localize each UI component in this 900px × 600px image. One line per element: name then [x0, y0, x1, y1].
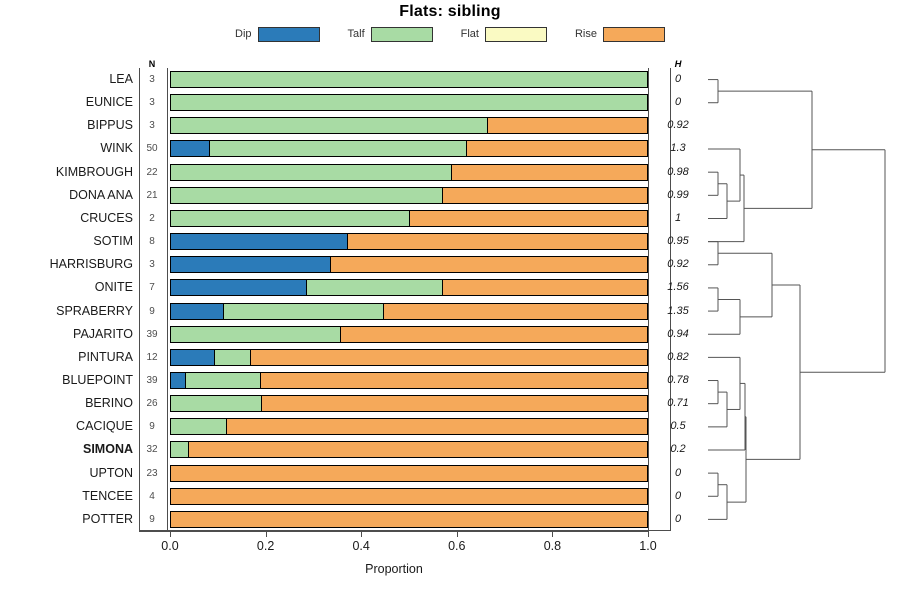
legend: Dip Talf Flat Rise: [0, 25, 900, 43]
row-n-value: 7: [139, 276, 165, 299]
bar-segment-talf: [171, 419, 226, 434]
x-tick-label: 0.8: [527, 539, 577, 553]
stacked-bar: [170, 117, 648, 134]
row-label-bluepoint: BLUEPOINT: [0, 369, 133, 392]
row-n-value: 50: [139, 137, 165, 160]
row-n-value: 3: [139, 114, 165, 137]
bar-segment-talf: [306, 280, 442, 295]
legend-label-rise: Rise: [575, 28, 597, 40]
stacked-bar: [170, 279, 648, 296]
row-label-simona: SIMONA: [0, 438, 133, 461]
row-n-value: 23: [139, 462, 165, 485]
row-h-value: 0: [654, 91, 702, 114]
x-axis-title: Proportion: [139, 562, 649, 576]
row-label-spraberry: SPRABERRY: [0, 300, 133, 323]
row-h-value: 0: [654, 68, 702, 91]
row-h-value: 0: [654, 485, 702, 508]
bar-segment-rise: [330, 257, 647, 272]
x-tick-label: 0.0: [145, 539, 195, 553]
bar-segment-talf: [171, 118, 487, 133]
row-h-value: 0.2: [654, 438, 702, 461]
stacked-bar: [170, 441, 648, 458]
row-label-dona-ana: DONA ANA: [0, 184, 133, 207]
stacked-bar: [170, 210, 648, 227]
stacked-bar: [170, 418, 648, 435]
row-label-eunice: EUNICE: [0, 91, 133, 114]
row-label-kimbrough: KIMBROUGH: [0, 161, 133, 184]
bar-segment-talf: [171, 188, 442, 203]
legend-swatch-talf: [371, 27, 433, 42]
bar-segment-rise: [442, 280, 647, 295]
bar-segment-rise: [226, 419, 647, 434]
row-h-value: 0.92: [654, 114, 702, 137]
bar-segment-rise: [171, 489, 647, 504]
stacked-bar: [170, 71, 648, 88]
x-tick-label: 0.2: [241, 539, 291, 553]
row-h-value: 0.99: [654, 184, 702, 207]
stacked-bar: [170, 488, 648, 505]
row-n-value: 22: [139, 161, 165, 184]
stacked-bar: [170, 395, 648, 412]
bar-segment-talf: [223, 304, 383, 319]
row-label-pajarito: PAJARITO: [0, 323, 133, 346]
bar-segment-dip: [171, 373, 185, 388]
row-n-value: 26: [139, 392, 165, 415]
legend-label-flat: Flat: [461, 28, 479, 40]
x-tick-label: 1.0: [623, 539, 673, 553]
row-n-value: 39: [139, 369, 165, 392]
bar-segment-talf: [171, 396, 261, 411]
row-n-value: 9: [139, 300, 165, 323]
legend-label-dip: Dip: [235, 28, 252, 40]
row-label-sotim: SOTIM: [0, 230, 133, 253]
row-h-value: 1.3: [654, 137, 702, 160]
bar-segment-rise: [340, 327, 647, 342]
stacked-bar: [170, 256, 648, 273]
bar-segment-rise: [451, 165, 647, 180]
bar-segment-talf: [214, 350, 251, 365]
row-h-value: 0.5: [654, 415, 702, 438]
bar-segment-talf: [171, 165, 451, 180]
legend-item-flat: Flat: [461, 27, 547, 42]
bar-segment-talf: [185, 373, 259, 388]
x-axis-line: [139, 531, 649, 532]
bar-segment-dip: [171, 304, 223, 319]
row-n-value: 3: [139, 91, 165, 114]
bar-segment-dip: [171, 234, 347, 249]
dendrogram: [700, 68, 900, 531]
row-label-tencee: TENCEE: [0, 485, 133, 508]
row-n-value: 2: [139, 207, 165, 230]
bar-segment-rise: [260, 373, 647, 388]
legend-item-talf: Talf: [348, 27, 433, 42]
bar-segment-rise: [442, 188, 647, 203]
row-h-value: 0.98: [654, 161, 702, 184]
row-n-value: 8: [139, 230, 165, 253]
bar-segment-talf: [209, 141, 466, 156]
bar-segment-dip: [171, 350, 214, 365]
row-label-cruces: CRUCES: [0, 207, 133, 230]
bar-segment-dip: [171, 257, 330, 272]
row-label-harrisburg: HARRISBURG: [0, 253, 133, 276]
bar-segment-rise: [347, 234, 647, 249]
stacked-bar: [170, 303, 648, 320]
bar-segment-talf: [171, 327, 340, 342]
row-label-pintura: PINTURA: [0, 346, 133, 369]
bar-segment-rise: [171, 512, 647, 527]
row-h-value: 0.94: [654, 323, 702, 346]
row-h-value: 0.82: [654, 346, 702, 369]
stacked-bar: [170, 164, 648, 181]
bar-segment-talf: [171, 211, 409, 226]
row-h-value: 0.95: [654, 230, 702, 253]
bar-segment-rise: [409, 211, 648, 226]
x-tick-label: 0.4: [336, 539, 386, 553]
row-n-value: 12: [139, 346, 165, 369]
row-label-potter: POTTER: [0, 508, 133, 531]
row-label-bippus: BIPPUS: [0, 114, 133, 137]
row-h-value: 1.56: [654, 276, 702, 299]
row-n-value: 3: [139, 253, 165, 276]
bar-segment-rise: [171, 466, 647, 481]
bar-segment-rise: [383, 304, 647, 319]
bar-segment-rise: [261, 396, 647, 411]
row-h-value: 0.71: [654, 392, 702, 415]
stacked-bar: [170, 372, 648, 389]
stacked-bar: [170, 94, 648, 111]
bar-segment-talf: [171, 442, 188, 457]
x-tick-label: 0.6: [432, 539, 482, 553]
stacked-bar: [170, 511, 648, 528]
row-n-value: 21: [139, 184, 165, 207]
row-label-upton: UPTON: [0, 462, 133, 485]
bar-segment-dip: [171, 280, 306, 295]
bar-segment-talf: [171, 95, 647, 110]
legend-label-talf: Talf: [348, 28, 365, 40]
bar-segment-talf: [171, 72, 647, 87]
row-label-berino: BERINO: [0, 392, 133, 415]
bar-segment-dip: [171, 141, 209, 156]
row-label-lea: LEA: [0, 68, 133, 91]
bar-segment-rise: [250, 350, 647, 365]
row-n-value: 3: [139, 68, 165, 91]
row-h-value: 1.35: [654, 300, 702, 323]
bar-segment-rise: [487, 118, 647, 133]
legend-swatch-dip: [258, 27, 320, 42]
legend-item-dip: Dip: [235, 27, 320, 42]
stacked-bar: [170, 233, 648, 250]
row-n-value: 9: [139, 508, 165, 531]
legend-item-rise: Rise: [575, 27, 665, 42]
bar-segment-rise: [466, 141, 647, 156]
chart-title: Flats: sibling: [0, 3, 900, 21]
legend-swatch-flat: [485, 27, 547, 42]
row-h-value: 1: [654, 207, 702, 230]
row-h-value: 0.78: [654, 369, 702, 392]
row-h-value: 0: [654, 462, 702, 485]
row-label-onite: ONITE: [0, 276, 133, 299]
bar-segment-rise: [188, 442, 647, 457]
row-h-value: 0: [654, 508, 702, 531]
stacked-bar: [170, 465, 648, 482]
row-n-value: 39: [139, 323, 165, 346]
row-n-value: 4: [139, 485, 165, 508]
stacked-bar: [170, 140, 648, 157]
stacked-bar: [170, 326, 648, 343]
row-h-value: 0.92: [654, 253, 702, 276]
row-n-value: 9: [139, 415, 165, 438]
row-label-wink: WINK: [0, 137, 133, 160]
row-label-cacique: CACIQUE: [0, 415, 133, 438]
stacked-bar: [170, 349, 648, 366]
row-n-value: 32: [139, 438, 165, 461]
stacked-bar: [170, 187, 648, 204]
legend-swatch-rise: [603, 27, 665, 42]
